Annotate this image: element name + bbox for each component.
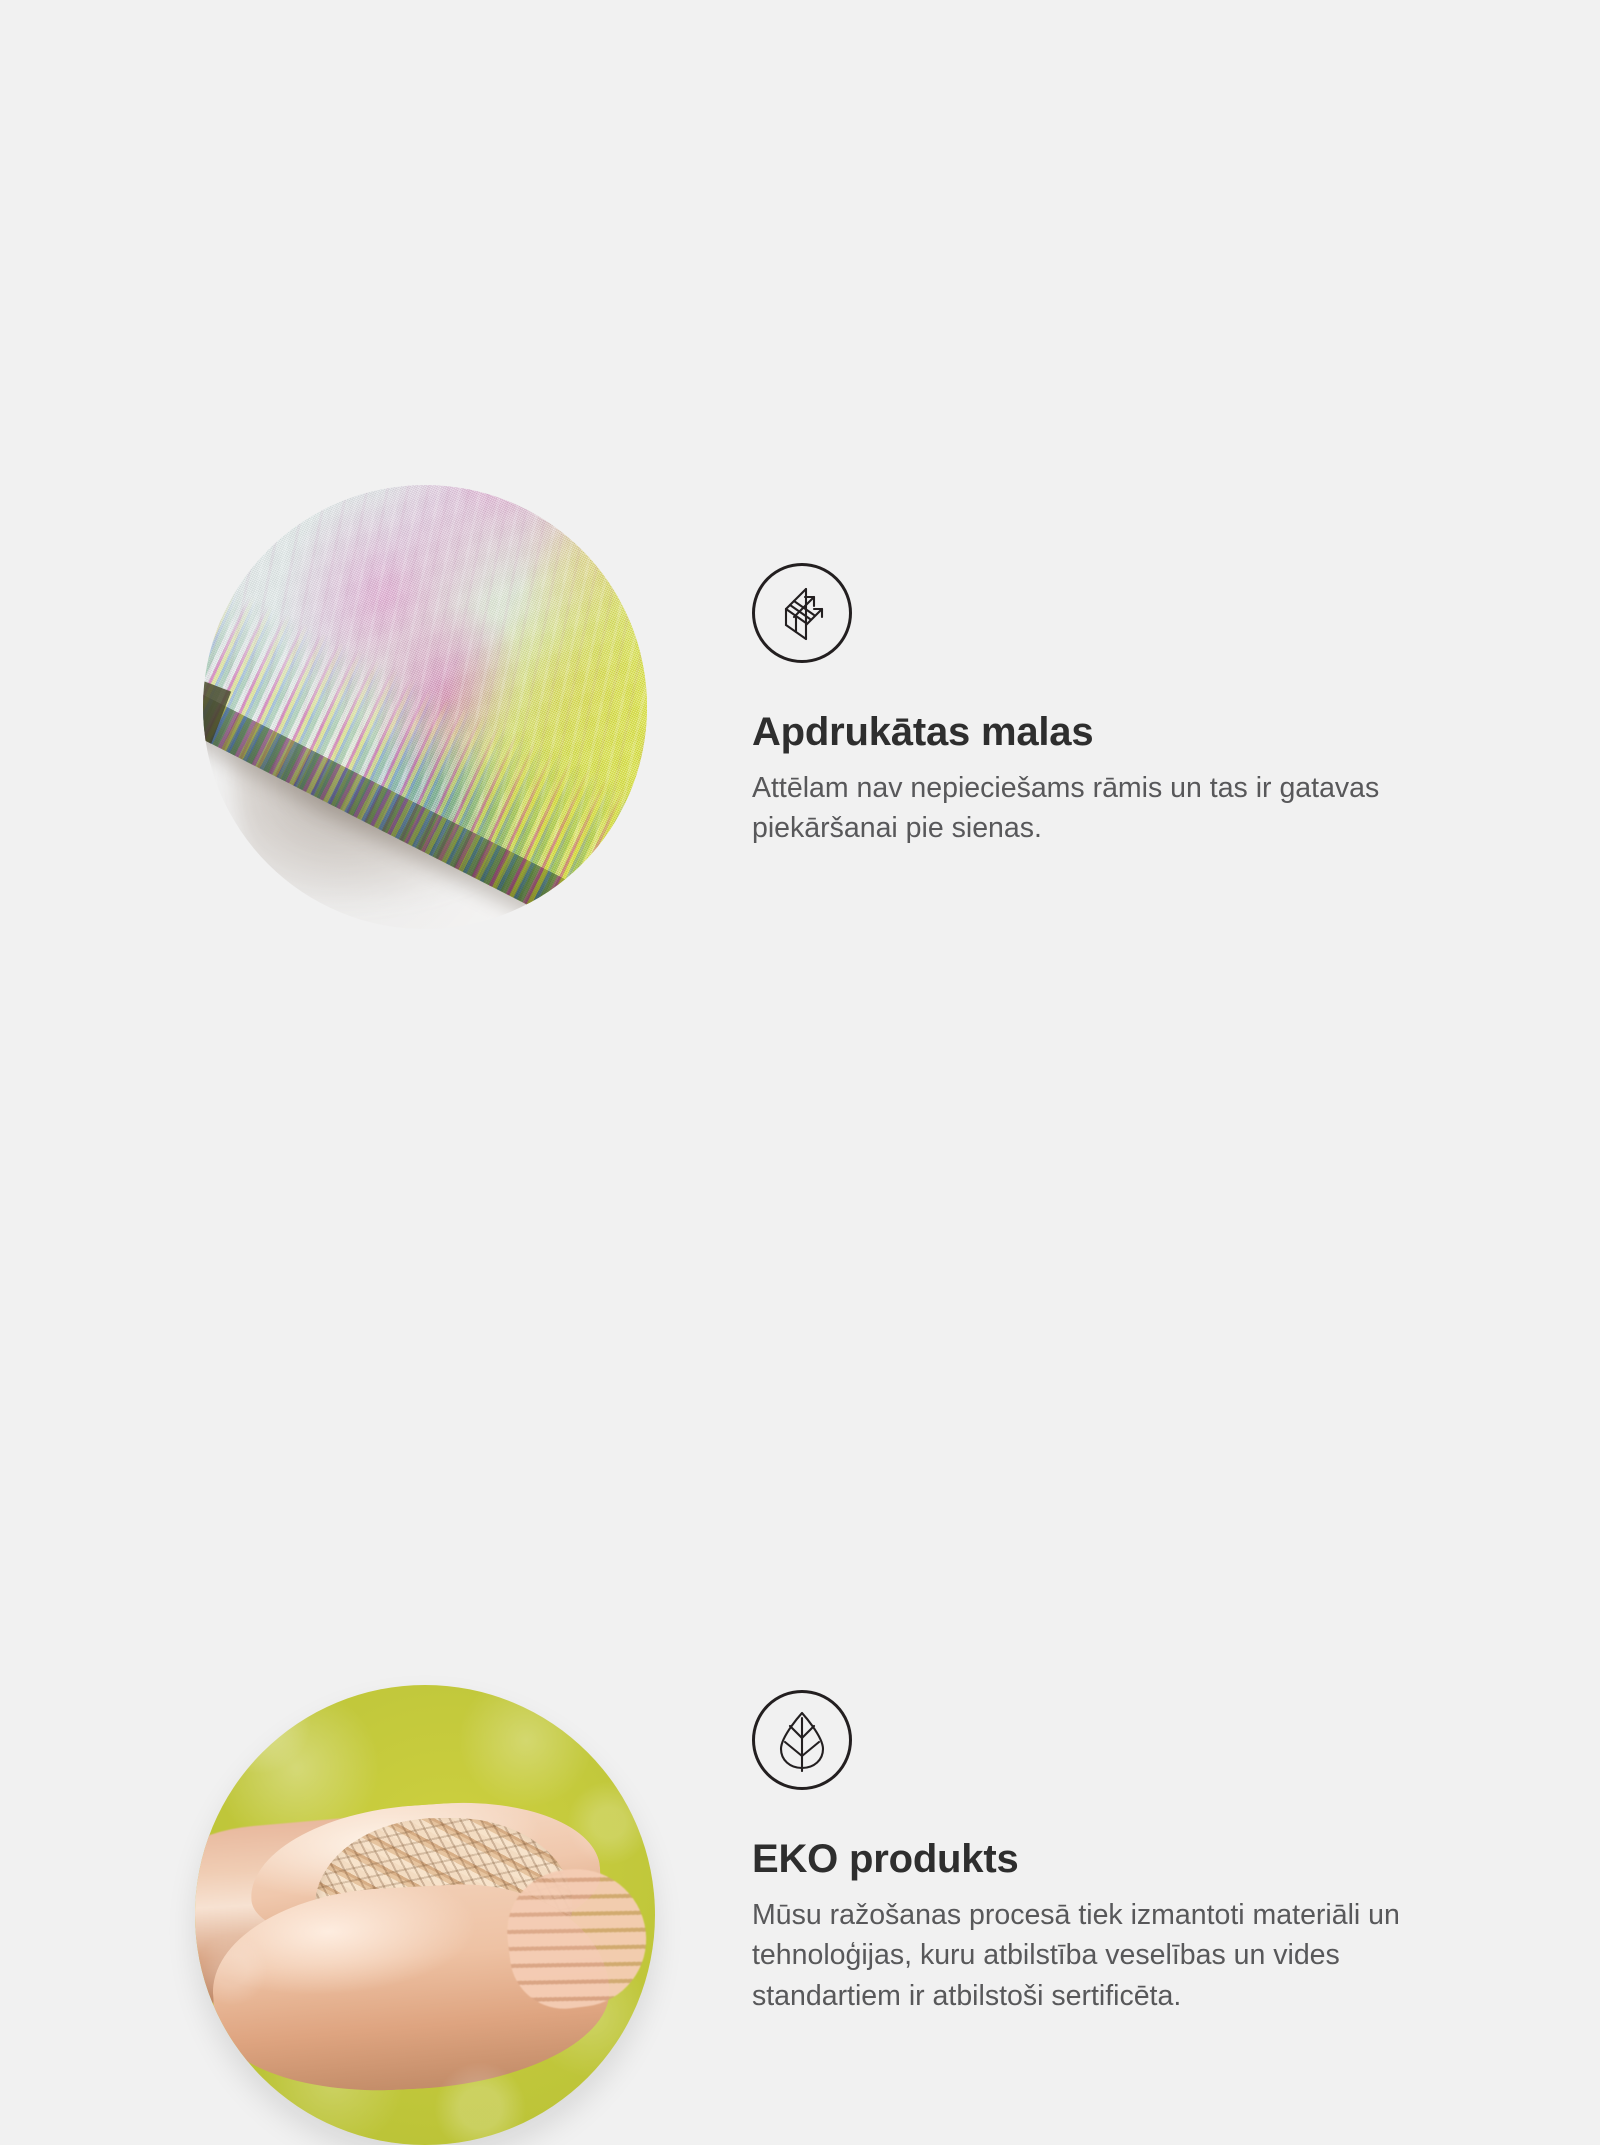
hands-holding-wood-chips-photo: [195, 1685, 655, 2145]
leaf-icon: [752, 1690, 852, 1790]
wrapped-canvas-edge-icon: [752, 563, 852, 663]
feature-text-printed-edges: Apdrukātas malas Attēlam nav nepieciešam…: [752, 563, 1492, 849]
feature-text-eco-product: EKO produkts Mūsu ražošanas procesā tiek…: [752, 1690, 1492, 2016]
feature-description-eco-product: Mūsu ražošanas procesā tiek izmantoti ma…: [752, 1895, 1478, 2016]
feature-block-eco-product: EKO produkts Mūsu ražošanas procesā tiek…: [0, 820, 1600, 1440]
feature-block-printed-edges: Apdrukātas malas Attēlam nav nepieciešam…: [0, 220, 1600, 820]
feature-title-printed-edges: Apdrukātas malas: [752, 710, 1492, 754]
feature-info-page: Apdrukātas malas Attēlam nav nepieciešam…: [0, 0, 1600, 1600]
feature-title-eco-product: EKO produkts: [752, 1837, 1492, 1881]
